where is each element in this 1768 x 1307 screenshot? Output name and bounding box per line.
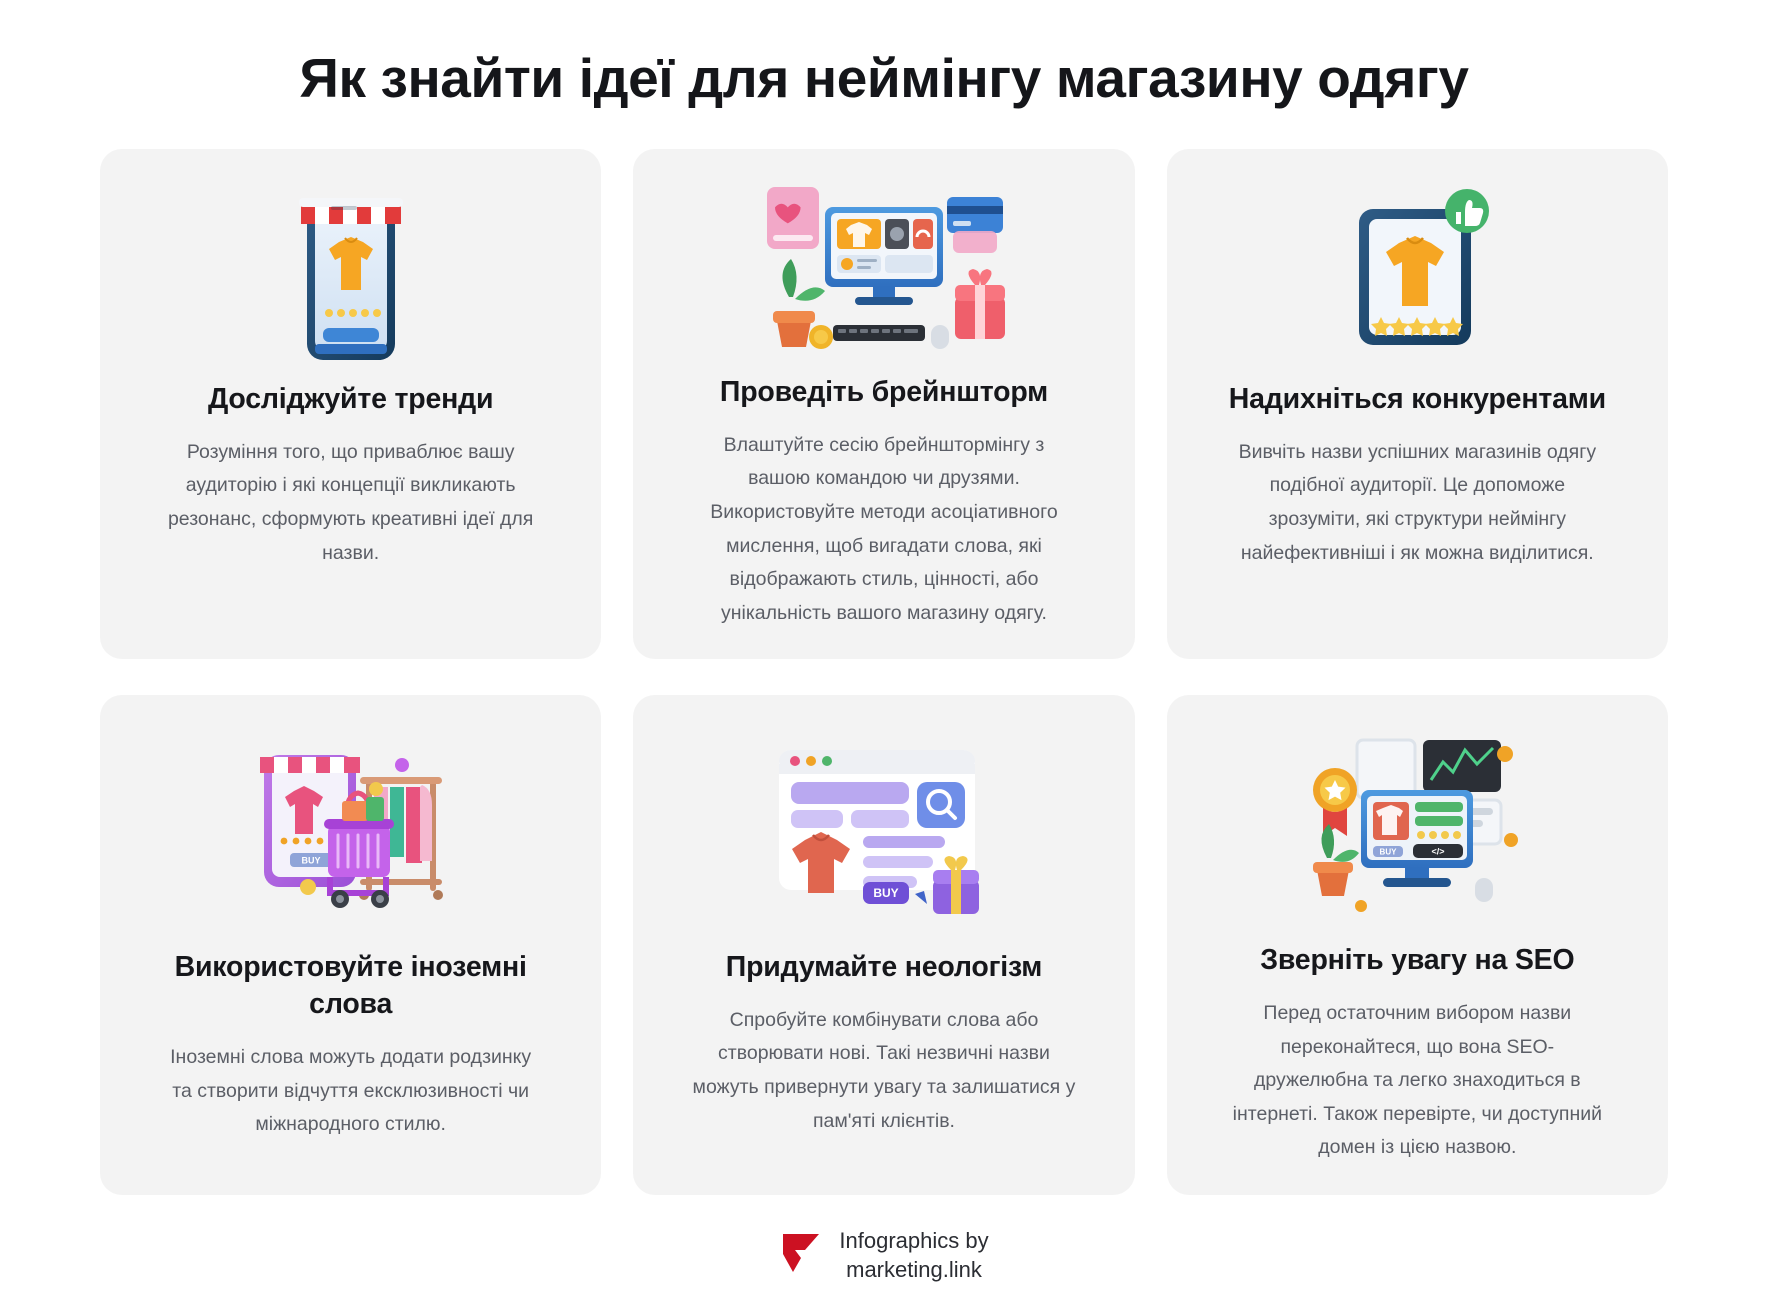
page-title: Як знайти ідеї для неймінгу магазину одя…: [100, 46, 1668, 111]
card-title: Використовуйте іноземні слова: [130, 949, 571, 1023]
marketing-link-logo-icon: [779, 1230, 823, 1281]
svg-text:BUY: BUY: [301, 855, 320, 865]
card-title: Придумайте неологізм: [720, 949, 1048, 986]
card-research-trends[interactable]: Досліджуйте тренди Розуміння того, що пр…: [100, 149, 601, 659]
mobile-shop-cart-rack-icon: BUY: [130, 725, 571, 933]
desktop-seo-chart-award-icon: BUY </>: [1197, 725, 1638, 926]
footer-line-2: marketing.link: [839, 1255, 988, 1285]
desktop-ecommerce-gift-icon: [663, 179, 1104, 364]
card-body: Іноземні слова можуть додати родзинку та…: [151, 1041, 551, 1142]
card-body: Розуміння того, що приваблює вашу аудито…: [151, 436, 551, 570]
svg-text:BUY: BUY: [1380, 848, 1398, 857]
footer-text: Infographics by marketing.link: [839, 1226, 988, 1285]
footer-line-1: Infographics by: [839, 1226, 988, 1256]
card-body: Вивчіть назви успішних магазинів одягу п…: [1217, 436, 1617, 570]
infographic-page: Як знайти ідеї для неймінгу магазину одя…: [0, 0, 1768, 1307]
card-title: Надихніться конкурентами: [1223, 381, 1612, 418]
card-foreign-words[interactable]: BUY: [100, 695, 601, 1195]
browser-search-buy-gift-icon: BUY: [663, 725, 1104, 933]
cards-grid: Досліджуйте тренди Розуміння того, що пр…: [100, 149, 1668, 1195]
card-body: Спробуйте комбінувати слова або створюва…: [684, 1004, 1084, 1138]
svg-text:BUY: BUY: [874, 886, 899, 900]
card-title: Досліджуйте тренди: [202, 381, 499, 418]
footer: Infographics by marketing.link: [100, 1226, 1668, 1307]
card-title: Зверніть увагу на SEO: [1254, 942, 1580, 979]
card-neologism[interactable]: BUY Придумайте неологізм Спробуйте комбі…: [633, 695, 1134, 1195]
card-brainstorm[interactable]: Проведіть брейншторм Влаштуйте сесію бре…: [633, 149, 1134, 659]
card-body: Перед остаточним вибором назви переконай…: [1217, 997, 1617, 1165]
svg-text:</>: </>: [1432, 847, 1445, 857]
card-seo[interactable]: BUY </>: [1167, 695, 1668, 1195]
card-inspire-competitors[interactable]: Надихніться конкурентами Вивчіть назви у…: [1167, 149, 1668, 659]
card-title: Проведіть брейншторм: [714, 374, 1054, 411]
tshirt-rating-thumbsup-icon: [1197, 179, 1638, 371]
smartphone-shop-tshirt-icon: [130, 179, 571, 371]
card-body: Влаштуйте сесію брейнштормінгу з вашою к…: [684, 429, 1084, 630]
